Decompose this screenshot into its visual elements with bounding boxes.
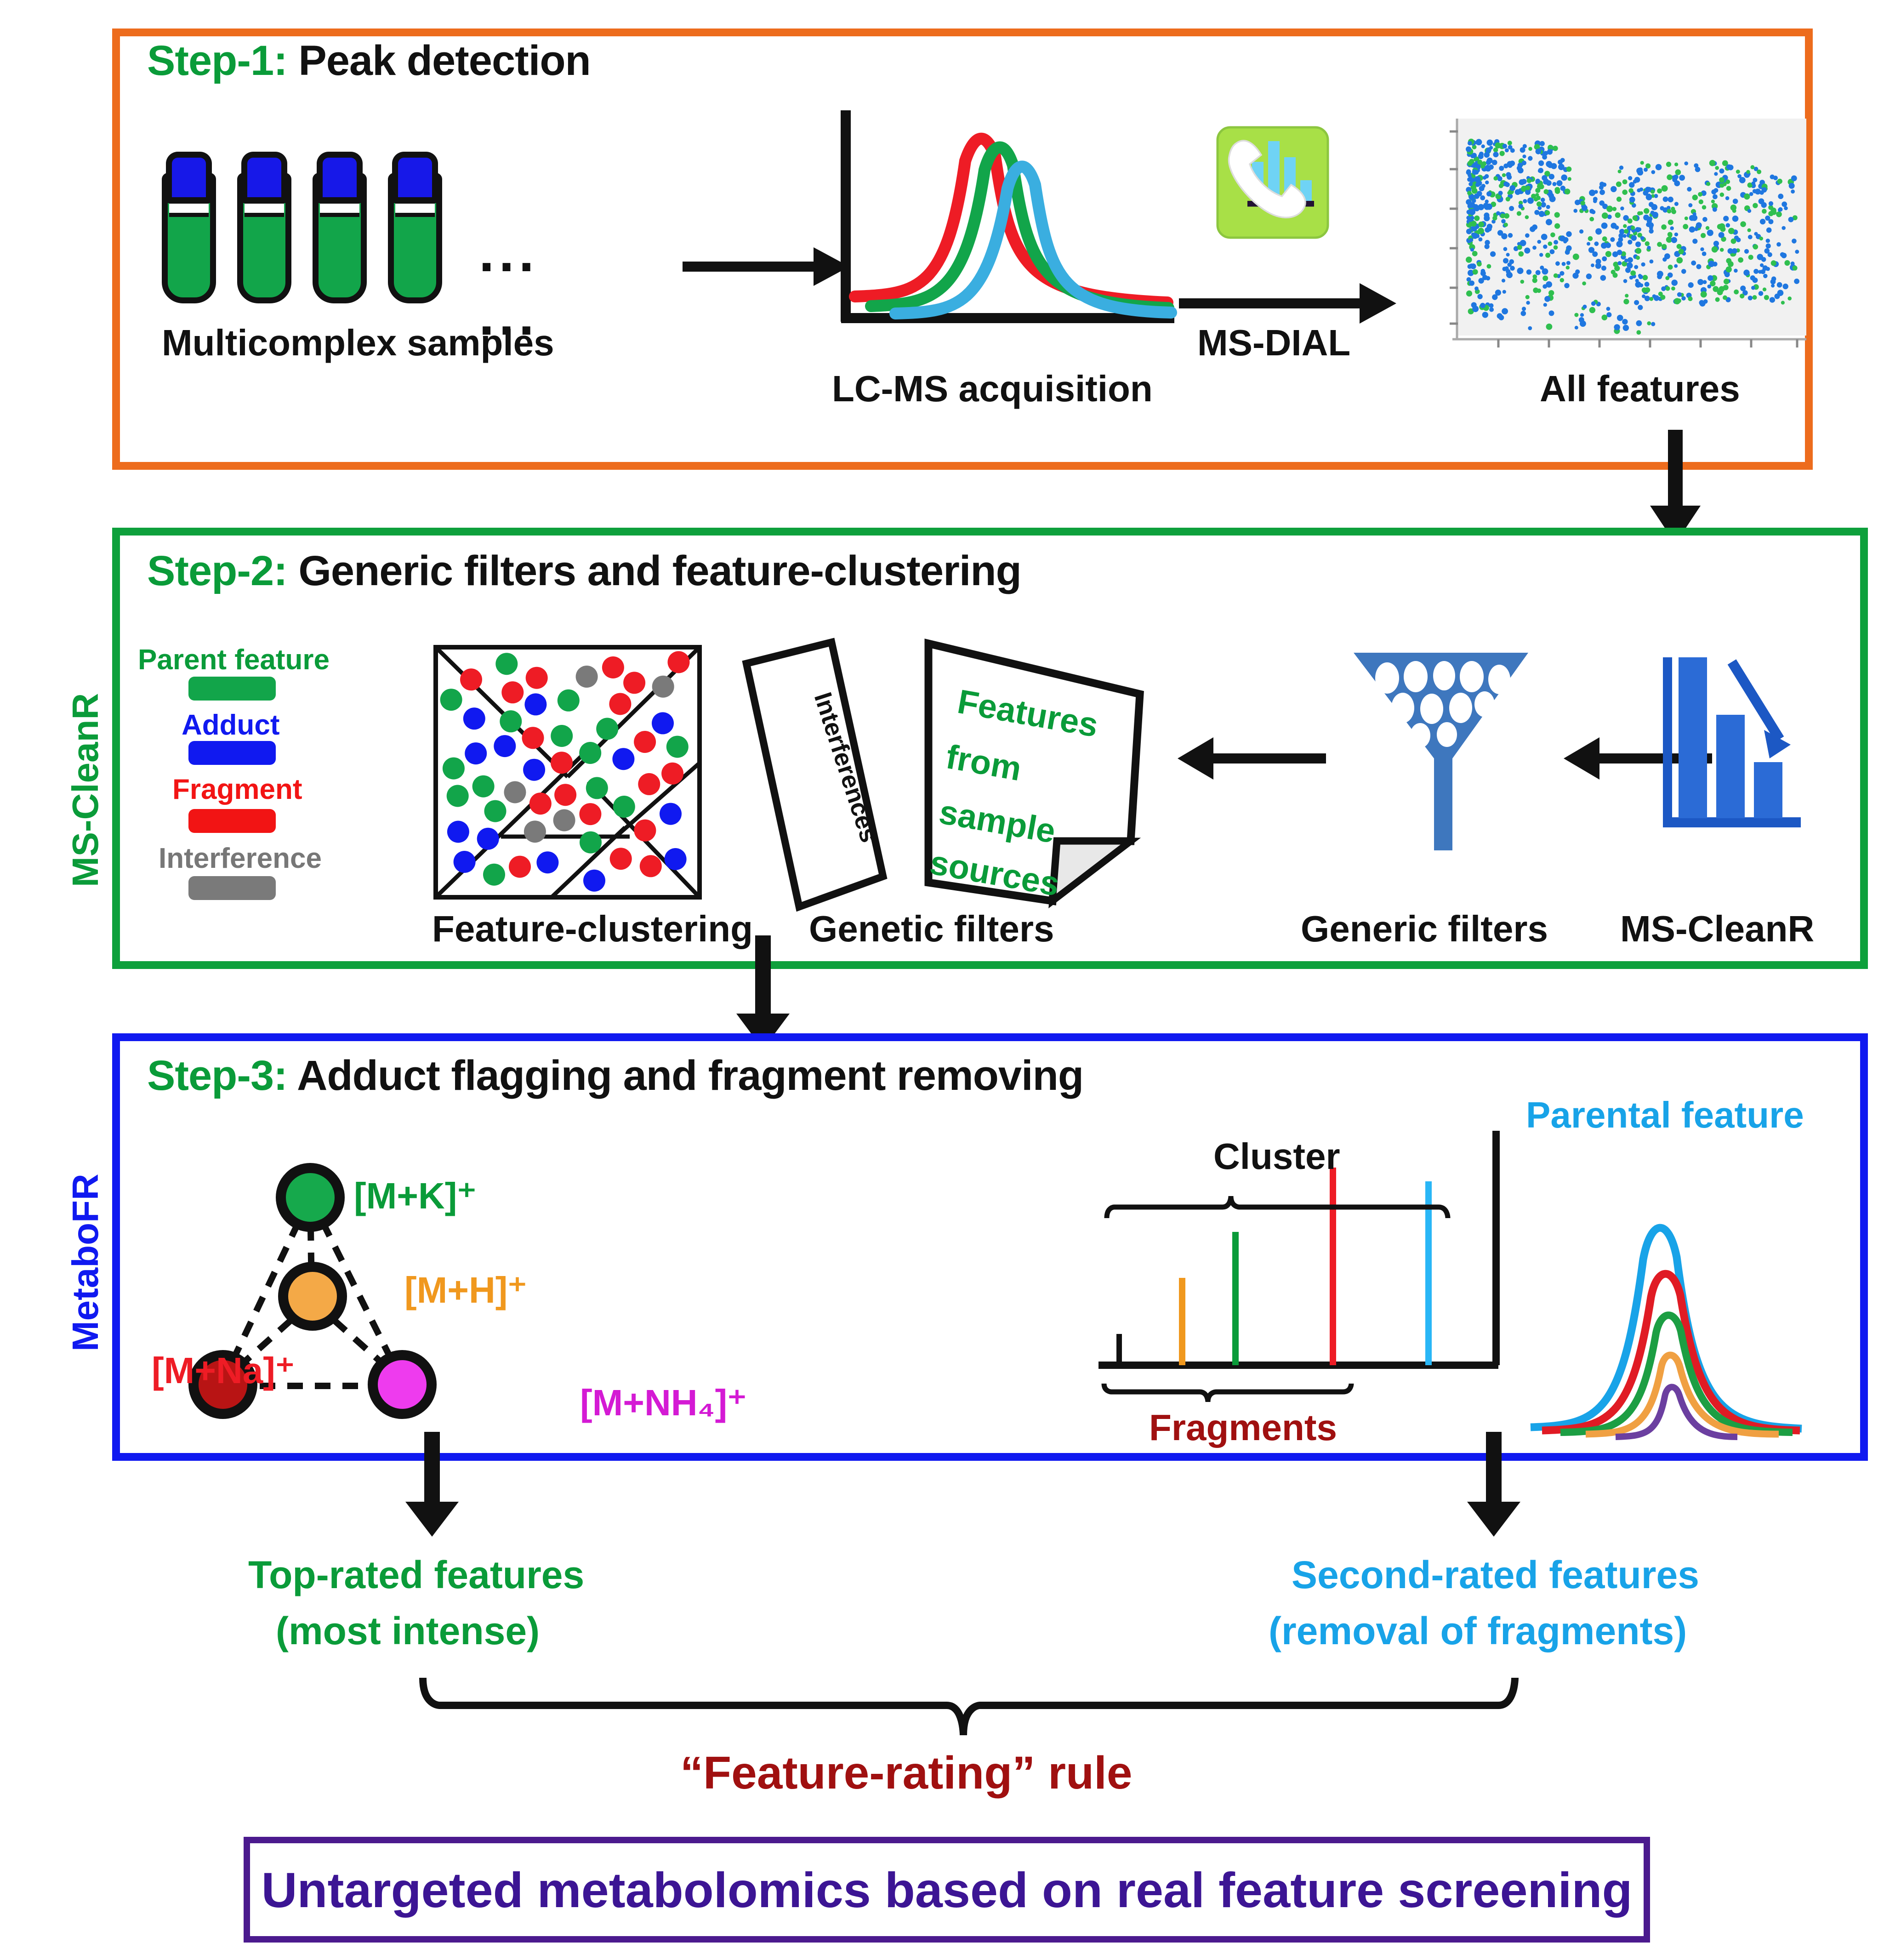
vial-cap [241,152,287,203]
step-2-title-text: Generic filters and feature-clustering [298,547,1021,594]
feature-clustering-diagram [432,644,703,901]
adduct-label-m-plus-na: [M+Na]⁺ [152,1349,295,1392]
legend-label-interference: Interference [159,842,322,875]
arrow-step3-to-second-rated [1457,1432,1531,1538]
adduct-label-m-plus-nh4: [M+NH₄]⁺ [580,1381,747,1424]
all-features-scatter-chart [1443,119,1806,358]
vial-cap [317,152,363,203]
final-statement-box: Untargeted metabolomics based on real fe… [244,1837,1650,1943]
step-2-number: Step-2: [147,547,287,594]
sample-vial [313,152,367,303]
adduct-label-m-plus-h: [M+H]⁺ [404,1269,527,1311]
vial-band [320,199,359,217]
step-2-title: Step-2: Generic filters and feature-clus… [147,547,1021,595]
step-1-number: Step-1: [147,37,287,84]
legend-swatch-interference [188,876,276,900]
step-1-title: Step-1: Peak detection [147,37,591,85]
fragments-label: Fragments [1149,1407,1337,1449]
vial-cap [392,152,438,203]
step-3-title: Step-3: Adduct flagging and fragment rem… [147,1052,1083,1100]
multicomplex-samples-caption: Multicomplex samples [162,322,554,364]
lcms-acquisition-caption: LC-MS acquisition [832,368,1153,410]
feature-clustering-caption: Feature-clustering [432,908,753,950]
parental-feature-label: Parental feature [1526,1094,1804,1136]
legend-swatch-parent-feature [188,677,276,701]
adduct-label-m-plus-k: [M+K]⁺ [354,1174,477,1217]
legend-swatch-adduct [188,741,276,765]
second-rated-features-line1: Second-rated features [1292,1553,1699,1597]
generic-filters-caption: Generic filters [1301,908,1548,950]
workflow-figure: MS-CleanR MetaboFR Step-1: Peak detectio… [0,0,1901,1960]
side-label-ms-cleanr: MS-CleanR [64,693,107,887]
top-rated-features-line2: (most intense) [276,1609,540,1653]
second-rated-features-line2: (removal of fragments) [1269,1609,1687,1653]
sample-vial [237,152,291,303]
final-statement-text: Untargeted metabolomics based on real fe… [262,1861,1633,1919]
legend-label-fragment: Fragment [172,773,302,806]
ms-dial-label: MS-DIAL [1197,322,1350,364]
arrow-funnel-to-papers [1177,731,1328,786]
vial-band [395,199,435,217]
vial-band [169,199,209,217]
side-label-metabofr: MetaboFR [64,1174,107,1351]
legend-label-adduct: Adduct [182,709,280,741]
arrow-step3-to-top-rated [395,1432,469,1538]
lcms-chromatogram-chart [827,106,1177,349]
parental-feature-chart [1517,1177,1811,1453]
vial-cap [166,152,212,203]
sample-vial [162,152,216,303]
genetic-filters-caption: Genetic filters [809,908,1054,950]
sample-vial [388,152,442,303]
ms-cleanr-barchart-icon [1655,648,1811,846]
step-3-number: Step-3: [147,1052,287,1099]
legend-swatch-fragment [188,809,276,833]
genetic-filters-papers: Interferences Features from sample sourc… [735,625,1158,919]
generic-filters-funnel-icon [1347,644,1535,860]
step-3-title-text: Adduct flagging and fragment removing [297,1052,1083,1099]
cluster-label: Cluster [1213,1135,1340,1178]
ms-dial-icon [1215,125,1330,240]
ms-cleanr-caption: MS-CleanR [1620,908,1814,950]
feature-rating-rule-label: “Feature-rating” rule [680,1747,1133,1800]
arrow-samples-to-lcms [680,239,850,294]
all-features-caption: All features [1540,368,1740,410]
vial-band [245,199,284,217]
top-rated-features-line1: Top-rated features [248,1553,584,1597]
legend-label-parent-feature: Parent feature [138,644,330,676]
step-1-title-text: Peak detection [298,37,590,84]
